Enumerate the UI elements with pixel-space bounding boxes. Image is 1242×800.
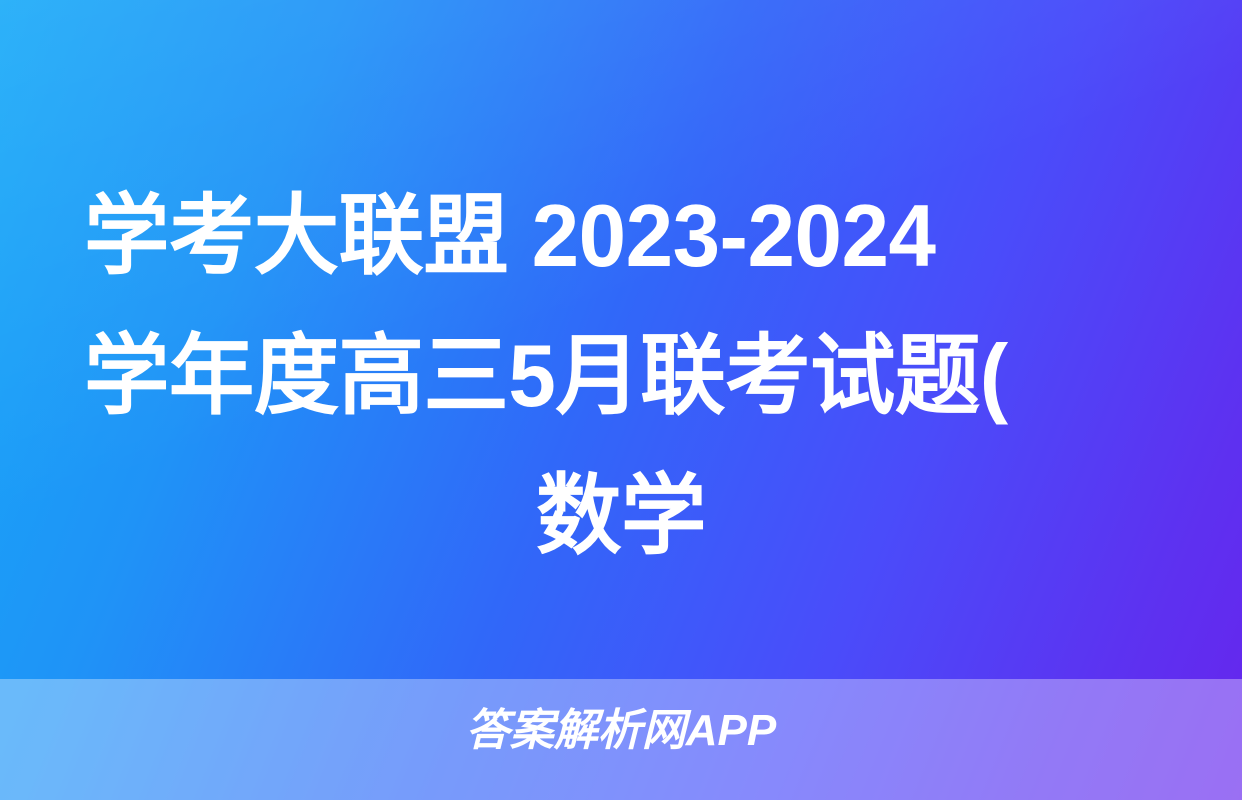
exam-paper-cover-poster: 学考大联盟 2023-2024 学年度高三5月联考试题( 数学 答案解析网APP xyxy=(0,0,1242,800)
poster-title-line-3-subject: 数学 xyxy=(100,446,1142,586)
app-watermark: 答案解析网APP xyxy=(0,703,1242,759)
poster-title-line-1: 学考大联盟 2023-2024 xyxy=(84,166,1126,306)
poster-title-block: 学考大联盟 2023-2024 学年度高三5月联考试题( 数学 xyxy=(0,166,1242,586)
poster-title-line-2: 学年度高三5月联考试题( xyxy=(84,306,1126,446)
